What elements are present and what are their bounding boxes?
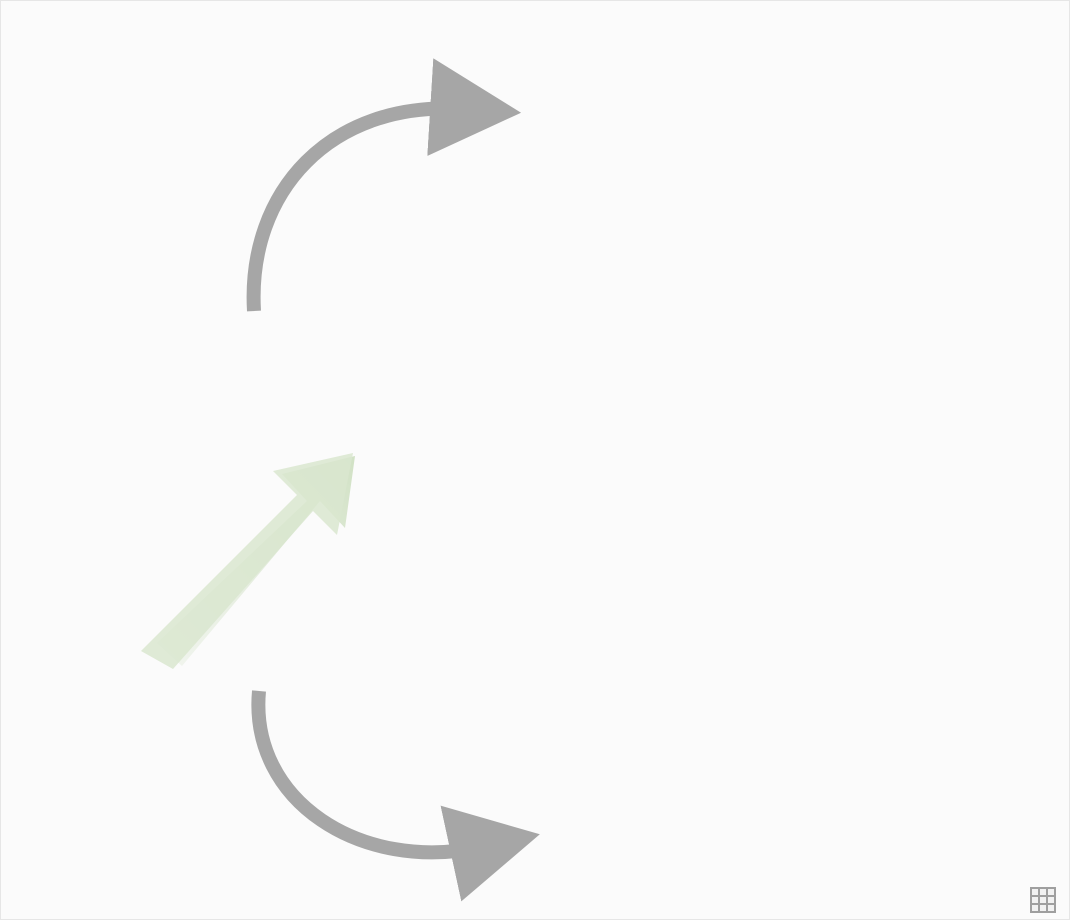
chart-som-pools [511, 1, 1070, 411]
qr-code-icon [1030, 887, 1056, 913]
left-chart-plot-area [67, 321, 487, 651]
bottom-chart-plot-area [591, 531, 1059, 879]
chart-bulk-oc [1, 301, 501, 701]
c-pool-complexity-arrow [254, 109, 461, 311]
molecular-diversity-arrow [258, 691, 481, 852]
physical-assay-title-chip [529, 6, 545, 13]
watermark [1030, 887, 1061, 913]
top-chart-plot-area [597, 93, 1059, 381]
chemical-assay-title-chip [529, 417, 545, 424]
chart-biomarkers [511, 413, 1070, 921]
infographic-figure [0, 0, 1070, 920]
